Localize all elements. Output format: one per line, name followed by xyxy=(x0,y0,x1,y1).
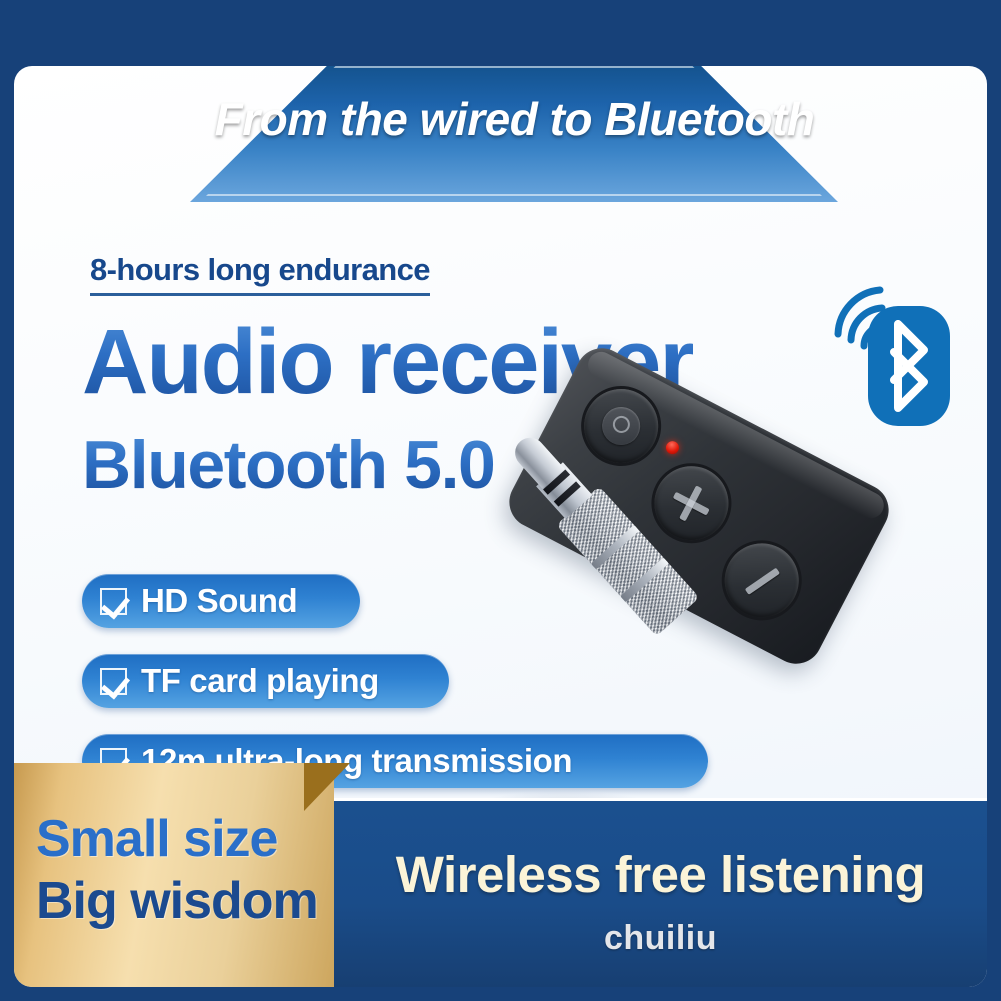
product-poster: From the wired to Bluetooth 8-hours long… xyxy=(0,0,1001,1001)
feature-pill-label: TF card playing xyxy=(141,662,379,700)
feature-pill-tf-card[interactable]: TF card playing xyxy=(82,654,449,708)
banner-title: From the wired to Bluetooth xyxy=(14,92,987,146)
minus-bar xyxy=(745,568,780,595)
bottom-tagline-bar: Wireless free listening chuiliu xyxy=(334,798,987,987)
ribbon-line2: Big wisdom xyxy=(36,871,318,931)
product-image xyxy=(414,396,987,856)
ribbon-line1: Small size xyxy=(36,809,277,869)
endurance-label: 8-hours long endurance xyxy=(90,252,430,296)
feature-pill-hd-sound[interactable]: HD Sound xyxy=(82,574,360,628)
checkbox-checked-icon xyxy=(100,668,127,695)
feature-pill-label: HD Sound xyxy=(141,582,297,620)
power-symbol-icon xyxy=(596,400,647,451)
gold-ribbon: Small size Big wisdom xyxy=(14,763,334,987)
bottom-tagline: Wireless free listening xyxy=(334,845,987,904)
watermark: chuiliu xyxy=(334,919,987,958)
checkbox-checked-icon xyxy=(100,588,127,615)
header-banner: From the wired to Bluetooth xyxy=(14,66,987,206)
poster-card: From the wired to Bluetooth 8-hours long… xyxy=(14,66,987,987)
ribbon-fold-corner xyxy=(304,763,350,811)
